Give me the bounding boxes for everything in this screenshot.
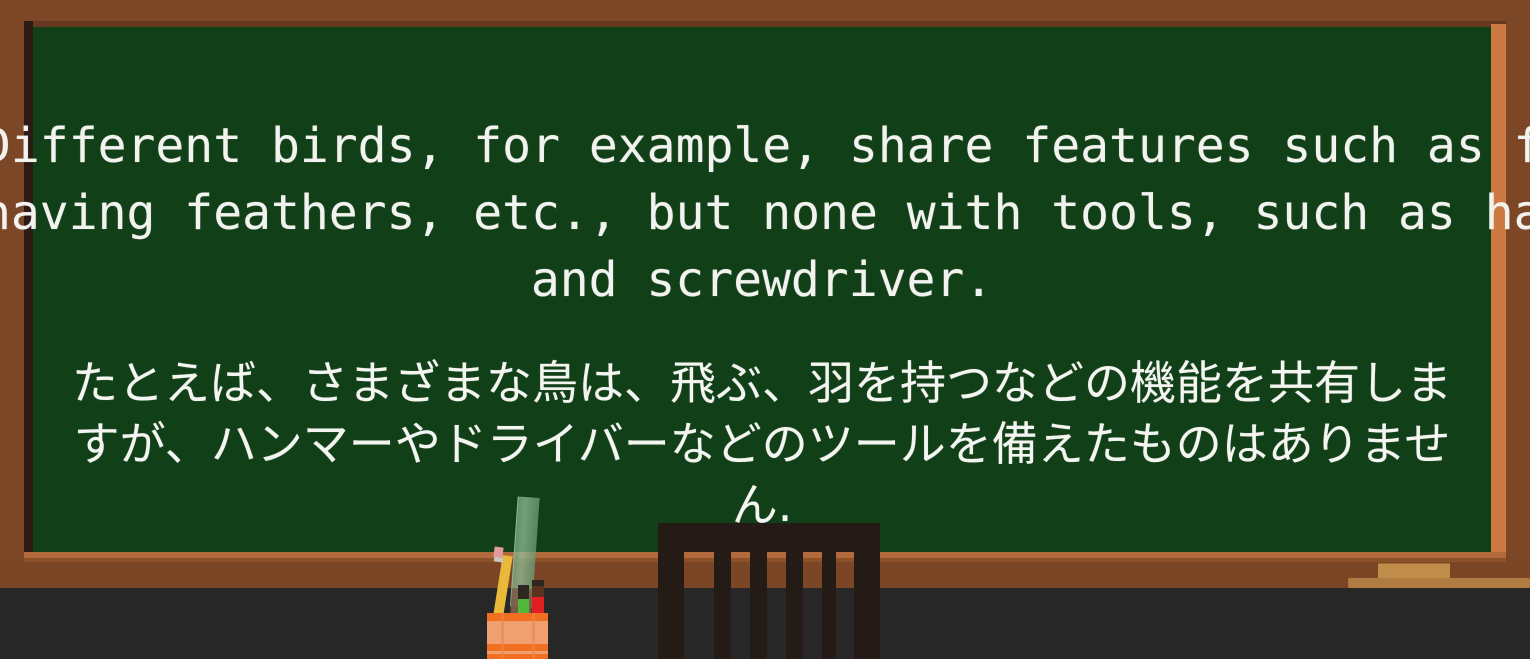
green-marker-cap [518, 585, 529, 599]
cup-stripe-bottom [487, 654, 548, 659]
frame-edge-right [1491, 24, 1506, 558]
cup-seam-left [501, 613, 504, 659]
english-line-2: having feathers, etc., but none with too… [0, 180, 1530, 247]
cup-stripe-top [487, 613, 548, 621]
frame-edge-left [24, 21, 33, 558]
wooden-desk [1348, 578, 1530, 588]
english-line-1: Different birds, for example, share feat… [0, 113, 1530, 180]
english-text-block: Different birds, for example, share feat… [0, 113, 1530, 314]
wooden-chair [658, 523, 880, 659]
cup-stripe-mid [487, 644, 548, 651]
chair-post-left [658, 523, 684, 659]
pencil-cup-group [487, 497, 557, 659]
chalkboard-surface: Different birds, for example, share feat… [33, 27, 1491, 553]
chair-slat-3 [786, 552, 803, 659]
pencil-eraser [493, 546, 503, 557]
red-marker-cap-top [532, 580, 544, 586]
japanese-line-1: たとえば、さまざまな鳥は、飛ぶ、羽を持つなどの機能を共有しま [65, 353, 1460, 414]
chair-slat-2 [750, 552, 767, 659]
classroom-scene: Different birds, for example, share feat… [0, 0, 1530, 659]
chair-backrest [658, 523, 880, 552]
cup-seam-right [532, 613, 535, 659]
chair-slat-1 [714, 552, 731, 659]
english-line-3: and screwdriver. [0, 247, 1530, 314]
chair-slat-4 [822, 552, 836, 659]
japanese-text-block: たとえば、さまざまな鳥は、飛ぶ、羽を持つなどの機能を共有しま すが、ハンマーやド… [65, 353, 1460, 536]
chair-post-right [854, 523, 880, 659]
japanese-line-2: すが、ハンマーやドライバーなどのツールを備えたものはありませ [65, 414, 1460, 475]
